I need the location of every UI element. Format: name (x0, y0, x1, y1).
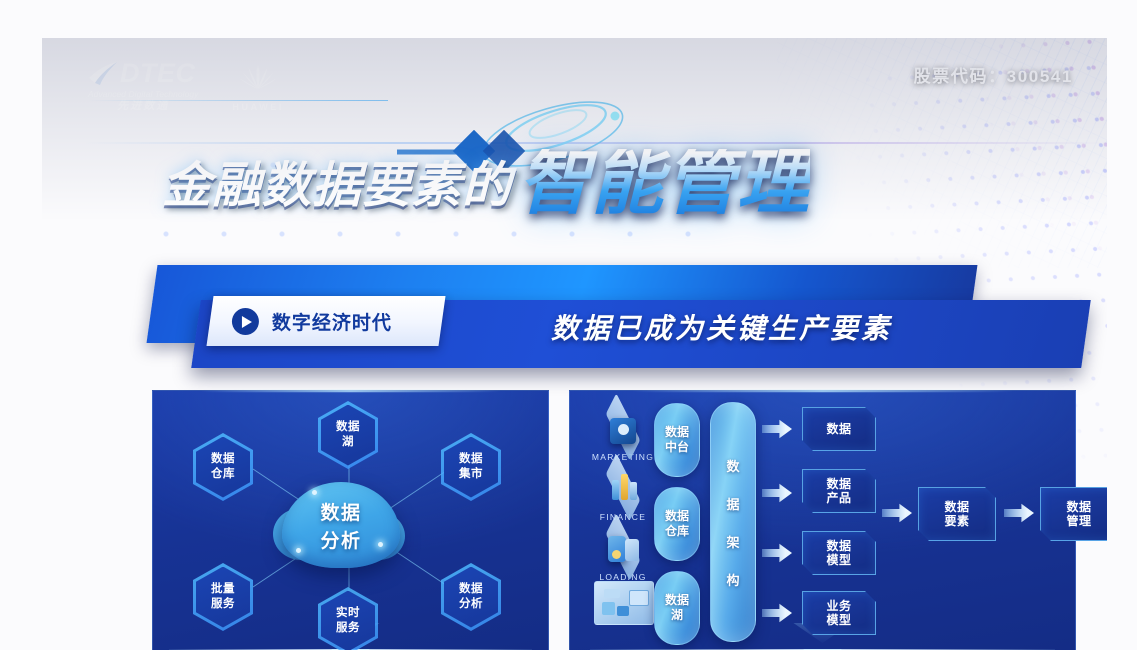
huawei-name: HUAWEI (232, 102, 284, 112)
cloud-spark-icon (378, 542, 383, 547)
architecture-char: 数 (726, 456, 739, 475)
arrow-icon (762, 603, 792, 623)
huawei-logo: HUAWEI (232, 63, 284, 112)
arrow-icon (762, 543, 792, 563)
title-part-2: 智能管理 (518, 149, 810, 217)
cloud-label: 数据 分析 (282, 482, 400, 568)
platform-data-midend[interactable]: 数据中台 (654, 403, 700, 477)
source-label: FINANCE (586, 512, 660, 522)
banner-headline: 数据已成为关键生产要素 (551, 307, 892, 347)
dot-row-decoration (137, 223, 697, 245)
section-badge[interactable]: 数字经济时代 (206, 296, 445, 346)
platform-data-warehouse[interactable]: 数据仓库 (654, 487, 700, 561)
output-data[interactable]: 数据 (802, 407, 876, 451)
arrow-icon (1004, 503, 1034, 523)
source-finance[interactable]: FINANCE (586, 463, 660, 522)
cloud-spark-icon (312, 490, 317, 495)
source-label: MARKETING (586, 452, 660, 462)
result-data-element[interactable]: 数据要素 (918, 487, 996, 541)
loading-icon (594, 523, 652, 571)
source-loading[interactable]: LOADING (586, 523, 660, 582)
finance-icon (594, 463, 652, 511)
center-cloud-data-analysis[interactable]: 数据 分析 (282, 482, 400, 568)
slide-title: 金融数据要素的 智能管理 (162, 146, 810, 217)
arrow-icon (762, 419, 792, 439)
architecture-vertical-bar[interactable]: 数 据 架 构 (710, 402, 756, 642)
dtec-tagline: Advanced Digital Technology (88, 90, 198, 98)
dtec-chinese-name: 先进数通 (88, 101, 198, 112)
section-badge-inner: 数字经济时代 (210, 308, 392, 335)
output-business-model[interactable]: 业务模型 (802, 591, 876, 635)
huawei-flower-icon (236, 63, 280, 93)
cloud-spark-icon (296, 548, 301, 553)
result-data-management[interactable]: 数据管理 (1040, 487, 1107, 541)
slide-stage: DTEC Advanced Digital Technology 先进数通 (0, 0, 1137, 650)
marketing-icon (594, 403, 652, 451)
platform-data-lake[interactable]: 数据湖 (654, 571, 700, 645)
dtec-logo: DTEC Advanced Digital Technology 先进数通 (88, 60, 198, 112)
dtec-logo-mark: DTEC (88, 60, 198, 87)
section-badge-label: 数字经济时代 (272, 308, 392, 335)
dtec-arrow-icon (88, 61, 118, 87)
logo-group: DTEC Advanced Digital Technology 先进数通 (88, 60, 284, 112)
source-thumbnail-image[interactable] (594, 581, 654, 625)
arrow-icon (762, 483, 792, 503)
right-diagram-panel: MARKETING FINANCE (569, 390, 1076, 650)
output-data-product[interactable]: 数据产品 (802, 469, 876, 513)
dtec-name: DTEC (120, 60, 196, 87)
source-marketing[interactable]: MARKETING (586, 403, 660, 462)
presentation-slide: DTEC Advanced Digital Technology 先进数通 (42, 38, 1107, 650)
architecture-char: 构 (726, 570, 739, 589)
output-data-model[interactable]: 数据模型 (802, 531, 876, 575)
arrow-icon (882, 503, 912, 523)
title-part-1: 金融数据要素的 (162, 146, 512, 217)
play-icon (232, 308, 259, 335)
header-divider-line (88, 100, 388, 101)
architecture-char: 据 (726, 494, 739, 513)
stock-code: 股票代码：300541 (914, 62, 1073, 87)
architecture-char: 架 (726, 532, 739, 551)
